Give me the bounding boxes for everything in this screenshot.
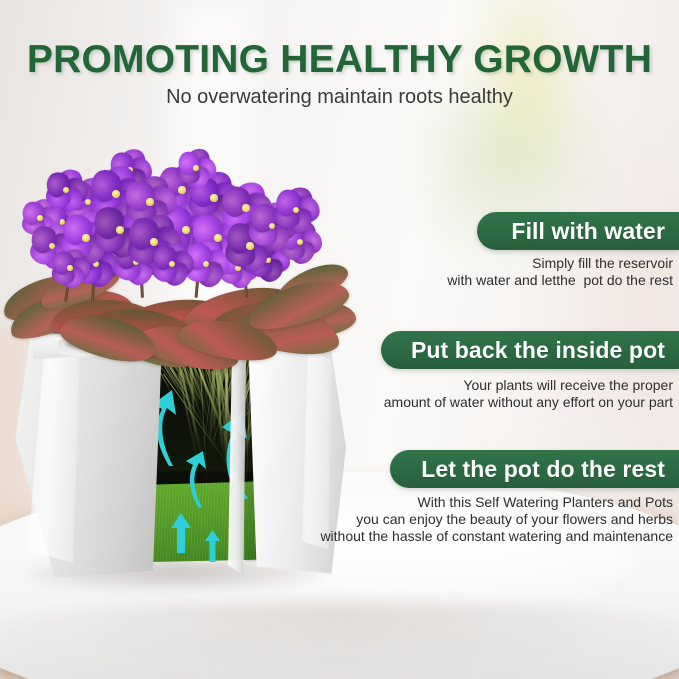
product-infographic: PROMOTING HEALTHY GROWTH No overwatering… — [0, 0, 679, 679]
step-2-pill[interactable]: Put back the inside pot — [381, 331, 679, 369]
table-edge-shadow — [0, 600, 679, 679]
page-title: PROMOTING HEALTHY GROWTH — [0, 38, 679, 82]
violet-flower — [146, 238, 198, 290]
flower-center — [63, 187, 69, 193]
step-2-label: Put back the inside pot — [411, 337, 665, 364]
step-3-description-line: without the hassle of constant watering … — [249, 528, 673, 545]
background-bokeh-warm — [560, 140, 679, 460]
self-watering-pot — [6, 330, 350, 585]
african-violet-plant — [0, 150, 360, 365]
water-flow-arrow-up-icon — [204, 530, 221, 562]
step-1-label: Fill with water — [511, 218, 665, 245]
step-3-pill[interactable]: Let the pot do the rest — [390, 450, 679, 488]
water-flow-arrow-up-icon — [170, 513, 192, 553]
violet-flower — [268, 182, 324, 238]
water-flow-arrow-curve-icon — [184, 450, 210, 508]
flower-center — [193, 165, 198, 170]
flower-center — [169, 261, 175, 267]
step-3-description-line: you can enjoy the beauty of your flowers… — [249, 511, 673, 528]
page-subtitle: No overwatering maintain roots healthy — [0, 86, 679, 109]
step-3-description: With this Self Watering Planters and Pot… — [249, 494, 673, 545]
violet-flower — [46, 244, 94, 292]
step-2-description-line: Your plants will receive the proper — [259, 377, 673, 394]
step-2-description: Your plants will receive the proper amou… — [259, 377, 673, 411]
step-3-label: Let the pot do the rest — [421, 456, 665, 483]
step-1-pill[interactable]: Fill with water — [477, 212, 679, 250]
flower-center — [146, 198, 153, 205]
step-3-description-line: With this Self Watering Planters and Pot… — [249, 494, 673, 511]
step-2-description-line: amount of water without any effort on yo… — [259, 394, 673, 411]
flower-center — [67, 265, 72, 270]
